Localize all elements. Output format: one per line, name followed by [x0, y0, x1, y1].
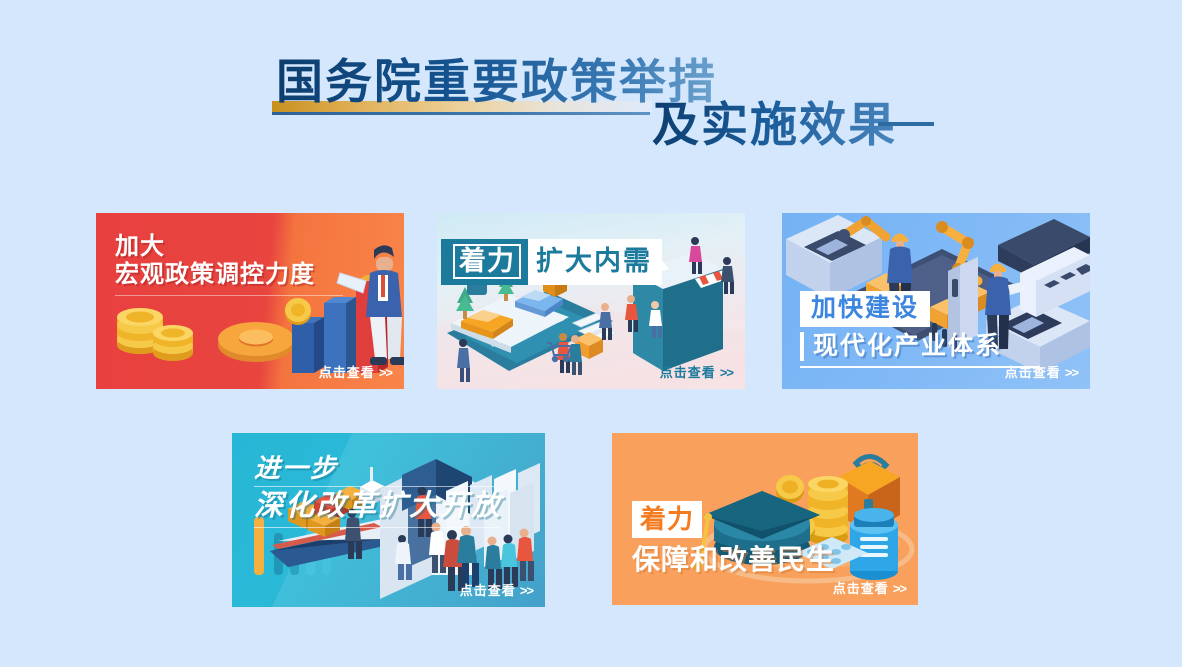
card3-headline-line-2: 现代化产业体系	[813, 332, 1038, 361]
card1-headline-line-2: 宏观政策调控力度	[115, 261, 343, 289]
card2-cta-label: 点击查看	[660, 365, 716, 380]
card3-cta-label: 点击查看	[1005, 365, 1061, 380]
card4-cta-arrow-icon: >>	[520, 583, 533, 598]
page-header: 国务院重要政策举措 及实施效果	[0, 0, 1182, 190]
card3-headline-line-1: 加快建设	[811, 294, 919, 323]
card5-headline-row-secondary: 保障和改善民生	[632, 544, 835, 576]
card1-headline: 加大 宏观政策调控力度	[115, 233, 343, 296]
card-improve-peoples-livelihood[interactable]: 着力 保障和改善民生 点击查看>>	[612, 433, 918, 605]
card5-cta[interactable]: 点击查看>>	[833, 578, 906, 597]
card2-cta-arrow-icon: >>	[720, 365, 733, 380]
card2-headline: 着力 扩大内需	[441, 239, 662, 285]
card-modern-industrial-system[interactable]: 加快建设 现代化产业体系 点击查看>>	[782, 213, 1090, 389]
card1-cta-label: 点击查看	[319, 365, 375, 380]
card4-headline: 进一步 深化改革扩大开放	[254, 453, 502, 528]
title-underline-rule	[272, 112, 650, 115]
card-expand-domestic-demand[interactable]: 着力 扩大内需 点击查看>>	[437, 213, 745, 389]
card2-headline-box-primary: 着力	[441, 239, 528, 285]
card3-cta-arrow-icon: >>	[1065, 365, 1078, 380]
card1-cta-arrow-icon: >>	[379, 365, 392, 380]
card1-cta[interactable]: 点击查看>>	[319, 362, 392, 381]
page-title-line-1: 国务院重要政策举措	[276, 57, 717, 106]
card3-cta[interactable]: 点击查看>>	[1005, 362, 1078, 381]
card2-headline-line-1: 着力	[453, 244, 521, 279]
card2-headline-line-2: 扩大内需	[536, 246, 652, 277]
card2-cta[interactable]: 点击查看>>	[660, 362, 733, 381]
card3-headline-box-primary: 加快建设	[800, 291, 930, 327]
card3-headline-row-secondary: 现代化产业体系	[800, 332, 1038, 361]
card4-headline-line-2: 深化改革扩大开放	[254, 490, 502, 524]
card5-headline: 着力 保障和改善民生	[632, 501, 835, 577]
card4-cta-label: 点击查看	[460, 583, 516, 598]
card5-cta-arrow-icon: >>	[893, 581, 906, 596]
card2-headline-box-secondary: 扩大内需	[528, 239, 662, 285]
policy-overview-page: 国务院重要政策举措 及实施效果	[0, 0, 1182, 667]
card4-headline-rule-bottom	[254, 527, 499, 528]
card5-headline-line-2: 保障和改善民生	[632, 544, 835, 576]
card5-headline-line-1: 着力	[640, 504, 694, 534]
card5-headline-box-primary: 着力	[632, 501, 702, 538]
card4-headline-line-1: 进一步	[254, 453, 502, 483]
card4-cta[interactable]: 点击查看>>	[460, 580, 533, 599]
card-deepen-reform-open-up[interactable]: 进一步 深化改革扩大开放 点击查看>>	[232, 433, 545, 607]
card5-cta-label: 点击查看	[833, 581, 889, 596]
card3-headline-rule	[800, 366, 1038, 368]
title-tail-dash	[878, 122, 934, 126]
card3-headline: 加快建设 现代化产业体系	[800, 291, 1038, 368]
card4-headline-rule-top	[254, 486, 499, 487]
page-title-line-2: 及实施效果	[652, 100, 897, 149]
card1-headline-line-1: 加大	[115, 233, 343, 261]
card1-headline-rule	[115, 295, 343, 296]
card-macro-policy-control[interactable]: 加大 宏观政策调控力度 点击查看>>	[96, 213, 404, 389]
